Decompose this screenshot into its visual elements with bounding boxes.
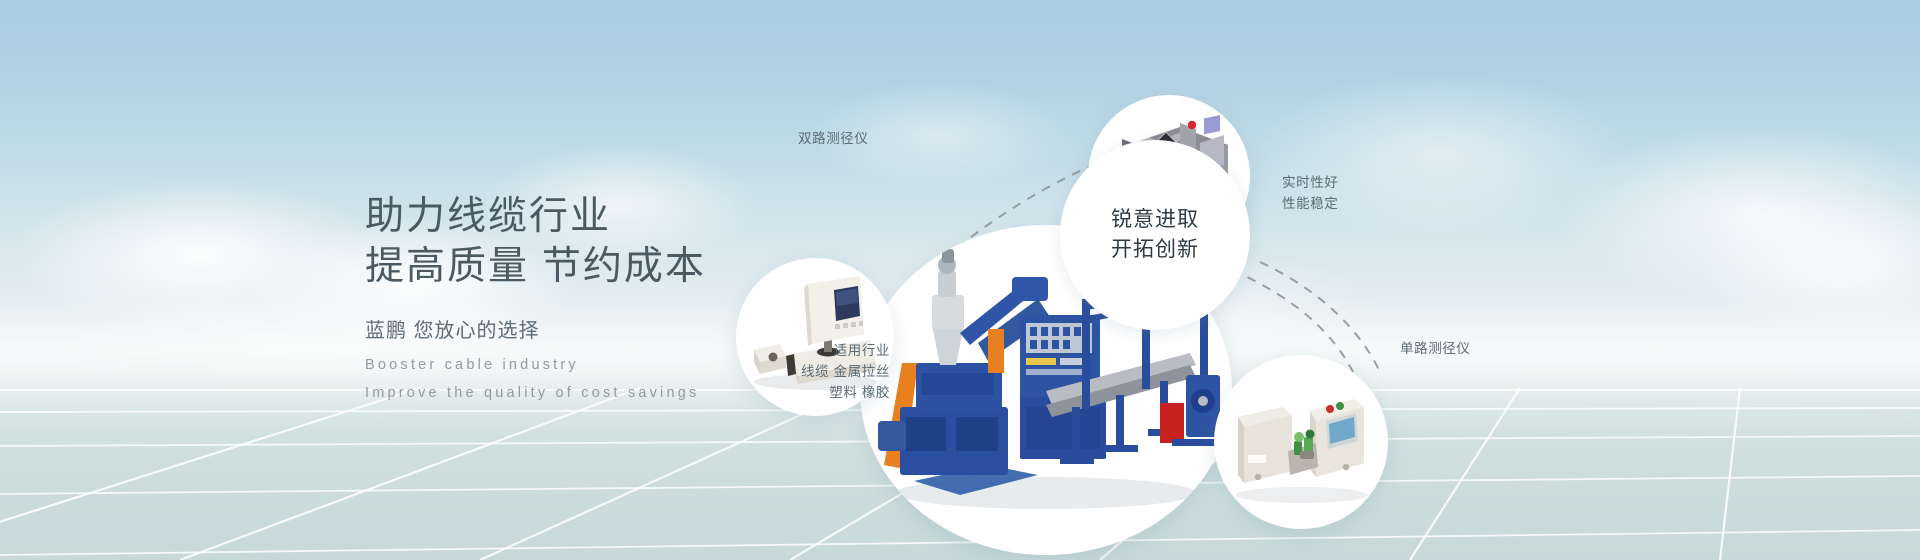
slogan-text: 锐意进取 开拓创新	[1111, 205, 1199, 265]
slogan-bubble: 锐意进取 开拓创新	[1060, 140, 1250, 330]
slogan-line-1: 锐意进取	[1111, 205, 1199, 235]
single-axis-diameter-gauge-illustration	[1214, 355, 1388, 529]
product-composition: 蓝鹏测控	[860, 0, 1920, 560]
slogan-line-2: 开拓创新	[1111, 235, 1199, 265]
label-industry-line-2: 塑料 橡胶	[730, 382, 890, 403]
label-single-gauge: 单路测径仪	[1400, 338, 1471, 359]
label-feature-line-1: 实时性好	[1282, 172, 1338, 193]
label-dual-gauge: 双路测径仪	[798, 128, 869, 149]
label-industry-line-1: 线缆 金属拉丝	[730, 361, 890, 382]
label-feature-line-2: 性能稳定	[1282, 193, 1338, 214]
single-gauge-bubble	[1214, 355, 1388, 529]
label-features: 实时性好 性能稳定	[1282, 172, 1338, 214]
label-industries: 适用行业 线缆 金属拉丝 塑料 橡胶	[730, 340, 890, 403]
hero-banner: 助力线缆行业 提高质量 节约成本 蓝鹏 您放心的选择 Booster cable…	[0, 0, 1920, 560]
label-industry-title: 适用行业	[730, 340, 890, 361]
